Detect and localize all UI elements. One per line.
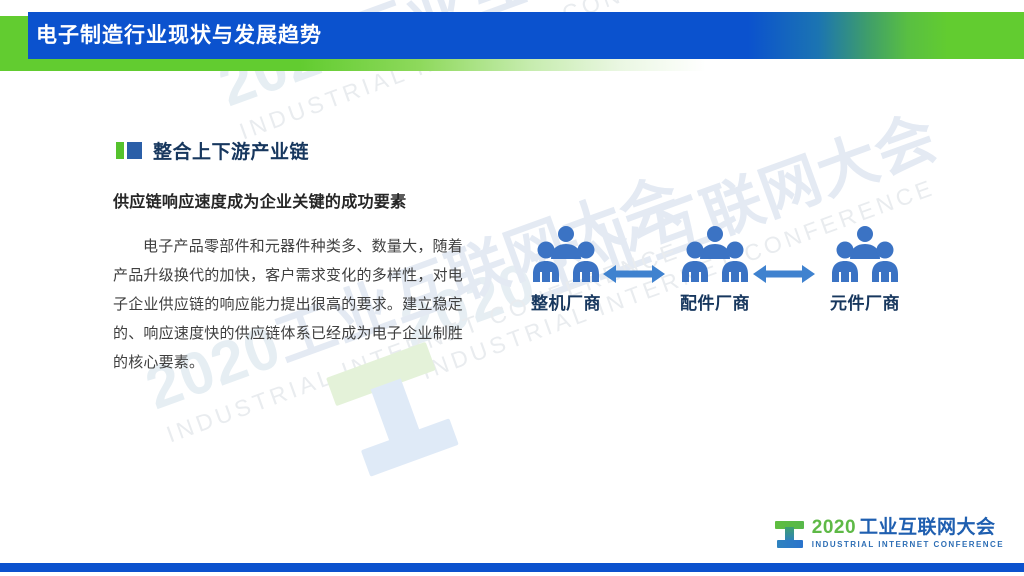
diagram-node-components: 元件厂商 xyxy=(805,225,925,314)
people-group-icon xyxy=(830,225,900,283)
footer-logo: 2020 工业互联网大会 INDUSTRIAL INTERNET CONFERE… xyxy=(775,518,1004,549)
slide-canvas: 2020工业互联网大会 INDUSTRIAL INTERNET CONFEREN… xyxy=(0,0,1024,576)
footer-logo-text: 2020 工业互联网大会 INDUSTRIAL INTERNET CONFERE… xyxy=(812,518,1004,549)
diagram-node-label: 元件厂商 xyxy=(805,289,925,314)
diagram-node-label: 配件厂商 xyxy=(655,289,775,314)
body-paragraph: 电子产品零部件和元器件种类多、数量大，随着产品升级换代的加快，客户需求变化的多样… xyxy=(113,232,463,377)
section-heading: 整合上下游产业链 xyxy=(116,137,309,164)
diagram-node-label: 整机厂商 xyxy=(506,289,626,314)
conference-logo-icon xyxy=(775,519,805,549)
footer-blue-bar xyxy=(0,563,1024,572)
people-group-icon xyxy=(680,225,750,283)
section-heading-label: 整合上下游产业链 xyxy=(153,137,309,164)
green-square-icon xyxy=(116,142,124,159)
footer-logo-cn: 工业互联网大会 xyxy=(859,518,996,537)
section-subtitle: 供应链响应速度成为企业关键的成功要素 xyxy=(113,188,406,212)
slide-content: 整合上下游产业链 供应链响应速度成为企业关键的成功要素 电子产品零部件和元器件种… xyxy=(0,0,1024,576)
supply-chain-diagram: 整机厂商 配件厂商 xyxy=(500,225,950,335)
people-group-icon xyxy=(531,225,601,283)
footer-logo-year: 2020 xyxy=(812,518,856,537)
blue-square-icon xyxy=(127,142,142,159)
footer-logo-en: INDUSTRIAL INTERNET CONFERENCE xyxy=(812,541,1004,549)
